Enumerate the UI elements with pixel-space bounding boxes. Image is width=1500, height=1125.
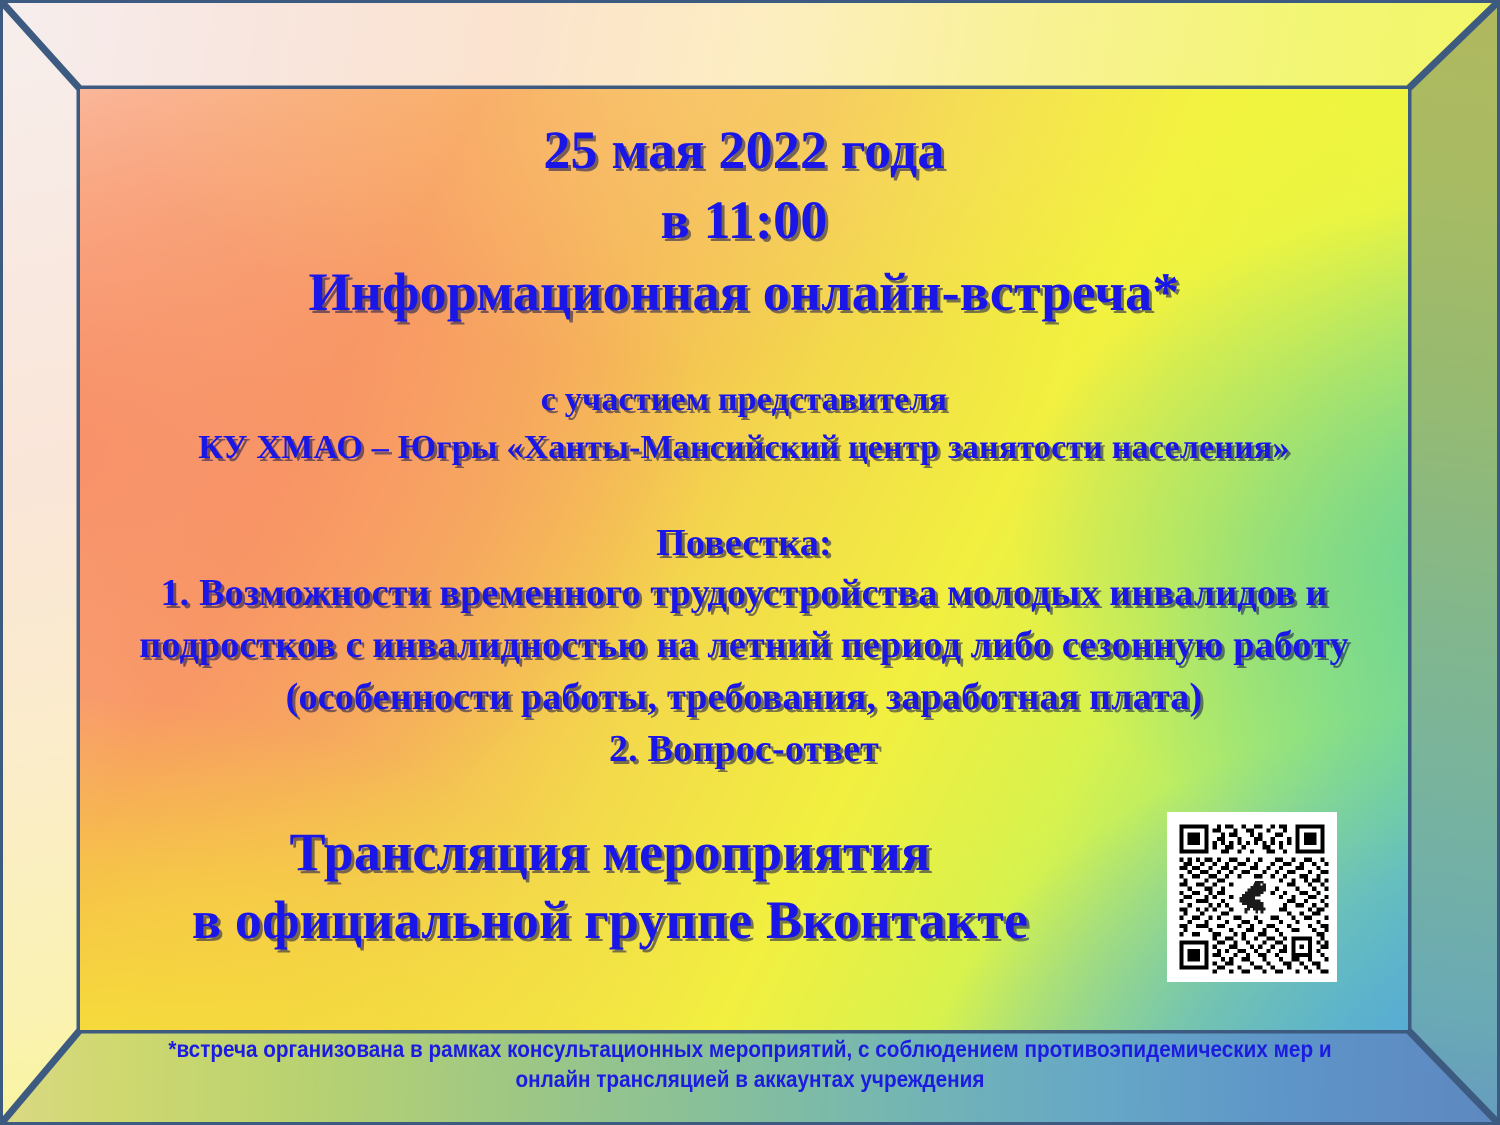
agenda-item-1: 1. Возможности временного трудоустройств… [80, 571, 1408, 615]
participation-line-1: с участием представителя [80, 381, 1408, 419]
participation-organization: КУ ХМАО – Югры «Ханты-Мансийский центр з… [80, 429, 1408, 467]
agenda-item-1-cont: подростков с инвалидностью на летний пер… [80, 623, 1408, 667]
footnote: *встреча организована в рамках консульта… [75, 1034, 1425, 1094]
qr-code[interactable] [1167, 812, 1337, 982]
event-time: в 11:00 [80, 189, 1408, 251]
agenda-heading: Повестка: [80, 521, 1408, 565]
qr-code-graphic [1167, 812, 1337, 982]
broadcast-line-2: в официальной группе Вконтакте [80, 889, 1140, 951]
broadcast-line-1: Трансляция мероприятия [80, 821, 1140, 883]
poster-canvas: 25 мая 2022 года в 11:00 Информационная … [0, 0, 1500, 1125]
event-title: Информационная онлайн-встреча* [80, 261, 1408, 323]
agenda-item-2: 2. Вопрос-ответ [80, 727, 1408, 771]
agenda-item-1-detail: (особенности работы, требования, заработ… [80, 675, 1408, 719]
poster-content: 25 мая 2022 года в 11:00 Информационная … [80, 89, 1408, 1030]
footnote-line-2: онлайн трансляцией в аккаунтах учреждени… [75, 1064, 1425, 1094]
event-date: 25 мая 2022 года [80, 119, 1408, 181]
footnote-line-1: *встреча организована в рамках консульта… [75, 1034, 1425, 1064]
